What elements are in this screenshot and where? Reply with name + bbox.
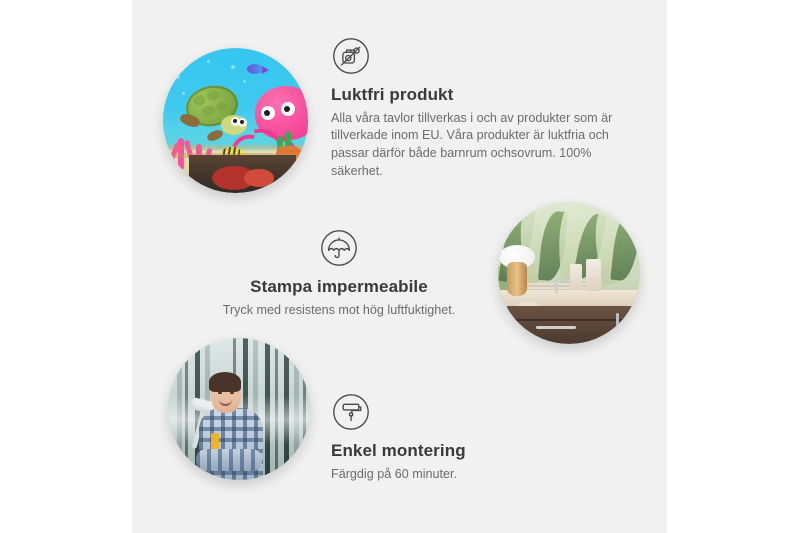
- underwater-cartoon-photo: [163, 48, 308, 193]
- umbrella-icon: [319, 228, 359, 268]
- feature-text-enkel-montering: Enkel montering Färgdig på 60 minuter.: [331, 392, 621, 483]
- feature-body: Alla våra tavlor tillverkas i och av pro…: [331, 110, 621, 182]
- bathroom-vanity-photo: [498, 202, 640, 344]
- woman-paint-roller-forest-photo: [168, 338, 310, 480]
- feature-block-stampa-impermeabile: Stampa impermeabile Tryck med resistens …: [0, 200, 800, 350]
- feature-title: Enkel montering: [331, 441, 621, 461]
- feature-block-enkel-montering: Enkel montering Färgdig på 60 minuter.: [0, 330, 800, 533]
- feature-text-stampa-impermeabile: Stampa impermeabile Tryck med resistens …: [196, 228, 482, 319]
- feature-body: Tryck med resistens mot hög luftfuktighe…: [196, 302, 482, 320]
- promo-infographic: Luktfri produkt Alla våra tavlor tillver…: [0, 0, 800, 533]
- feature-body: Färgdig på 60 minuter.: [331, 466, 621, 484]
- feature-title: Stampa impermeabile: [196, 277, 482, 297]
- paint-roller-icon: [331, 392, 371, 432]
- feature-title: Luktfri produkt: [331, 85, 621, 105]
- no-fragrance-icon: [331, 36, 371, 76]
- feature-text-luktfri-produkt: Luktfri produkt Alla våra tavlor tillver…: [331, 36, 621, 181]
- feature-block-luktfri-produkt: Luktfri produkt Alla våra tavlor tillver…: [0, 0, 800, 210]
